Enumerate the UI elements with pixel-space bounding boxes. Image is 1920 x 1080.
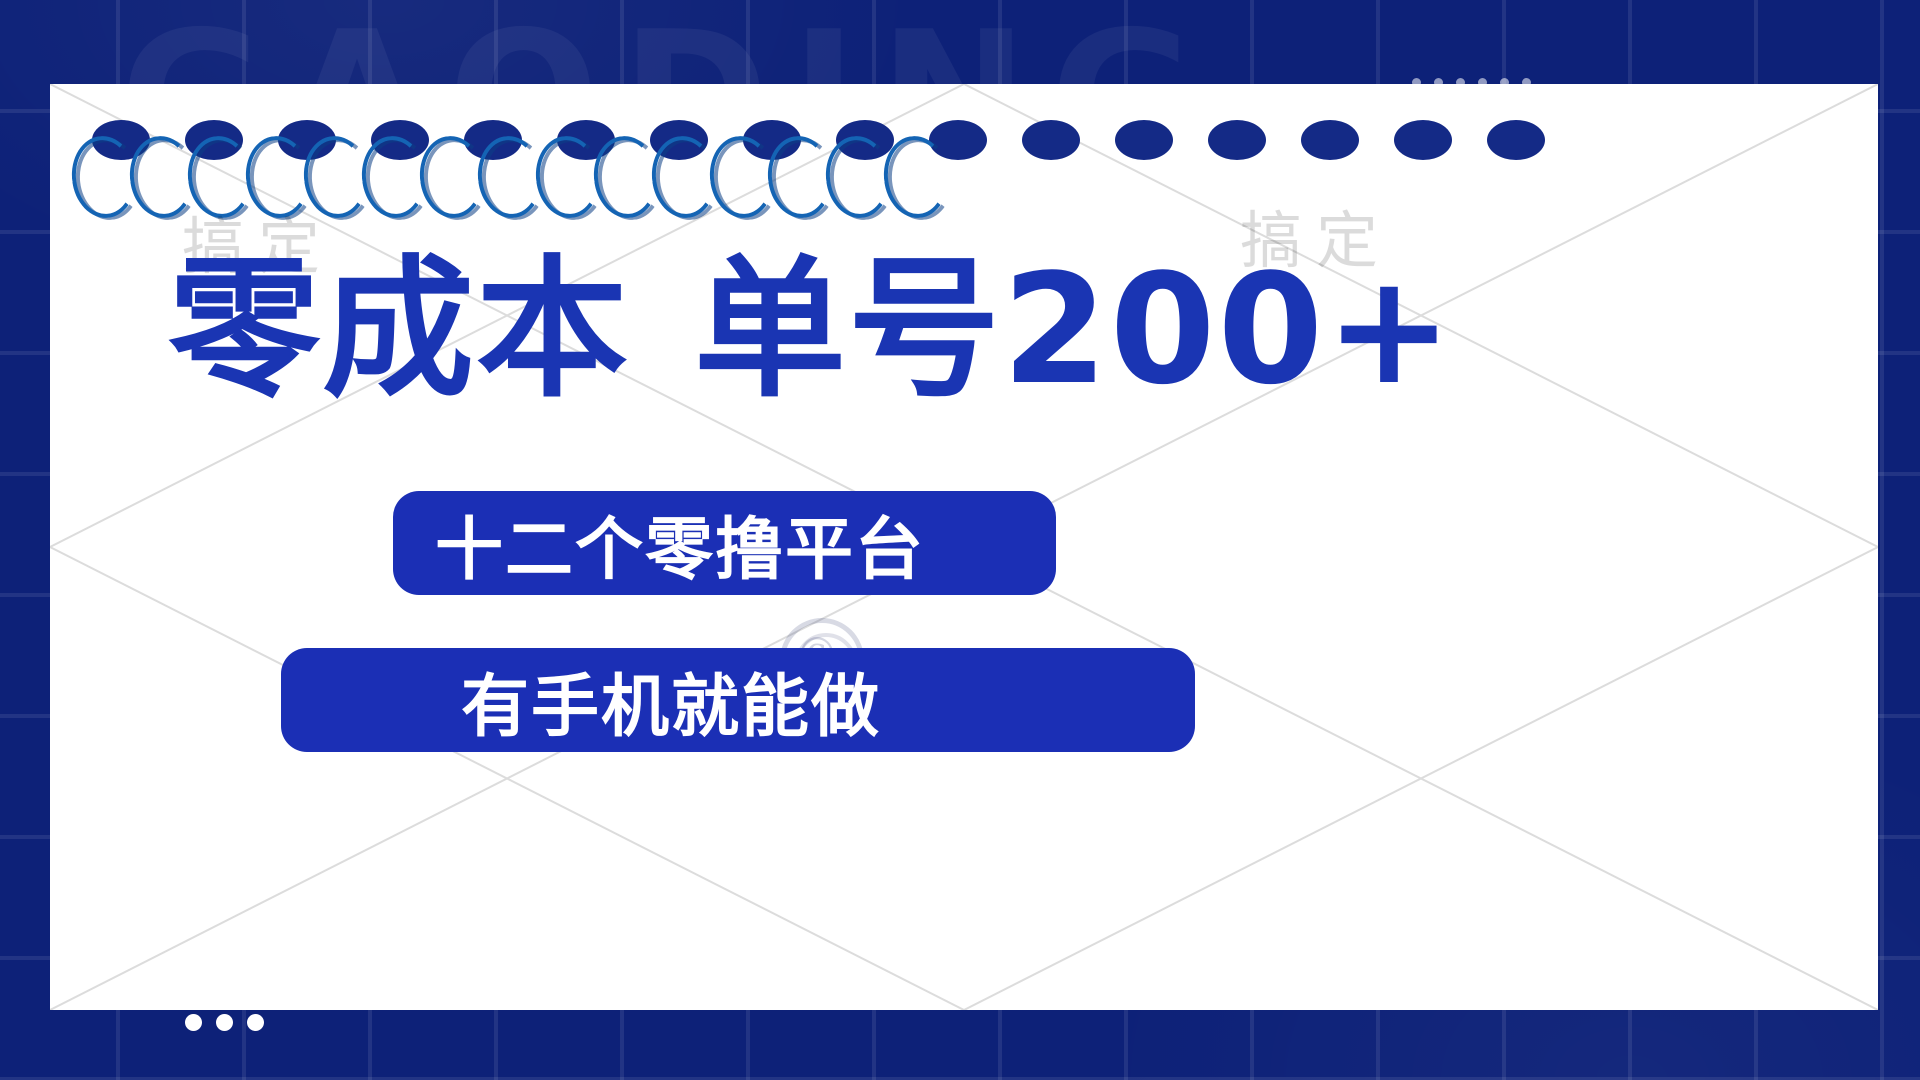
feature-pill-phone-label: 有手机就能做	[461, 651, 881, 750]
decor-dot	[216, 1014, 233, 1031]
feature-pill-platforms-label: 十二个零撸平台	[435, 494, 925, 593]
feature-pill-phone[interactable]: 有手机就能做	[281, 648, 1195, 752]
title-part-one: 零成本	[168, 241, 630, 418]
poster-canvas: GAODING	[0, 0, 1920, 1080]
feature-pill-platforms[interactable]: 十二个零撸平台	[393, 491, 1056, 595]
decor-dot	[185, 1014, 202, 1031]
decor-dot	[247, 1014, 264, 1031]
title-part-two: 单号200+	[694, 241, 1455, 418]
page-title: 零成本单号200+	[168, 250, 1728, 410]
